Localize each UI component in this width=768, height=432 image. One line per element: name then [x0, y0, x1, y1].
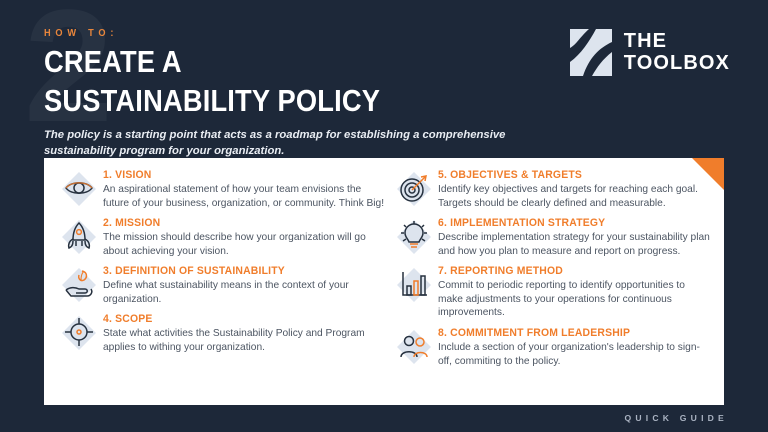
list-item-title: 1. VISION: [103, 169, 365, 181]
brand-logo: THE TOOLBOX: [569, 28, 730, 77]
icon-container: [60, 169, 98, 207]
list-item: 7. REPORTING METHOD Commit to periodic r…: [395, 264, 710, 320]
list-item-body: 5. OBJECTIVES & TARGETS Identify key obj…: [438, 168, 710, 210]
icon-container: [395, 217, 433, 255]
rocket-icon: [63, 220, 95, 252]
toolbox-diagonal-stripes-logo-icon: [569, 28, 613, 77]
list-item-title: 7. REPORTING METHOD: [438, 265, 691, 277]
header-subtitle: The policy is a starting point that acts…: [44, 128, 524, 159]
list-item-description: The mission should describe how your org…: [103, 231, 385, 258]
list-item-description: State what activities the Sustainability…: [103, 327, 385, 354]
steps-right-column: 5. OBJECTIVES & TARGETS Identify key obj…: [385, 168, 710, 395]
steps-left-column: 1. VISION An aspirational statement of h…: [60, 168, 385, 395]
steps-card: 1. VISION An aspirational statement of h…: [44, 158, 724, 405]
list-item-body: 7. REPORTING METHOD Commit to periodic r…: [438, 264, 710, 320]
list-item: 5. OBJECTIVES & TARGETS Identify key obj…: [395, 168, 710, 210]
hand-with-leaf-icon: [63, 268, 95, 300]
list-item-title: 3. DEFINITION OF SUSTAINABILITY: [103, 265, 365, 277]
list-item-description: Commit to periodic reporting to identify…: [438, 279, 710, 320]
page-title-line2: SUSTAINABILITY POLICY: [44, 85, 466, 117]
dartboard-arrow-icon: [398, 172, 430, 204]
list-item: 4. SCOPE State what activities the Susta…: [60, 312, 385, 354]
list-item: 8. COMMITMENT FROM LEADERSHIP Include a …: [395, 326, 710, 368]
list-item-body: 2. MISSION The mission should describe h…: [103, 216, 385, 258]
header: HOW TO: CREATE A SUSTAINABILITY POLICY T…: [44, 28, 524, 159]
list-item-description: Describe implementation strategy for you…: [438, 231, 710, 258]
brand-logo-text: THE TOOLBOX: [624, 31, 730, 74]
list-item-body: 1. VISION An aspirational statement of h…: [103, 168, 385, 210]
list-item-title: 2. MISSION: [103, 217, 365, 229]
list-item-description: Include a section of your organization's…: [438, 341, 710, 368]
brand-logo-text-line2: TOOLBOX: [624, 53, 730, 75]
two-people-icon: [398, 330, 430, 362]
footer-label: QUICK GUIDE: [625, 413, 729, 423]
list-item: 1. VISION An aspirational statement of h…: [60, 168, 385, 210]
icon-container: [395, 327, 433, 365]
list-item-description: Define what sustainability means in the …: [103, 279, 385, 306]
icon-container: [60, 313, 98, 351]
bar-chart-icon: [398, 268, 430, 300]
icon-container: [60, 217, 98, 255]
list-item-body: 4. SCOPE State what activities the Susta…: [103, 312, 385, 354]
page-title-line1: CREATE A: [44, 46, 466, 78]
list-item-title: 4. SCOPE: [103, 313, 365, 325]
icon-container: [395, 169, 433, 207]
header-kicker: HOW TO:: [44, 28, 486, 39]
list-item-body: 6. IMPLEMENTATION STRATEGY Describe impl…: [438, 216, 710, 258]
list-item: 2. MISSION The mission should describe h…: [60, 216, 385, 258]
list-item-title: 6. IMPLEMENTATION STRATEGY: [438, 217, 691, 229]
list-item-description: An aspirational statement of how your te…: [103, 183, 385, 210]
list-item-title: 5. OBJECTIVES & TARGETS: [438, 169, 691, 181]
list-item-body: 8. COMMITMENT FROM LEADERSHIP Include a …: [438, 326, 710, 368]
lightbulb-gear-icon: [398, 220, 430, 252]
list-item: 6. IMPLEMENTATION STRATEGY Describe impl…: [395, 216, 710, 258]
list-item-description: Identify key objectives and targets for …: [438, 183, 710, 210]
list-item-title: 8. COMMITMENT FROM LEADERSHIP: [438, 327, 691, 339]
brand-logo-text-line1: THE: [624, 31, 730, 53]
crosshair-target-icon: [63, 316, 95, 348]
eye-icon: [63, 172, 95, 204]
icon-container: [60, 265, 98, 303]
list-item: 3. DEFINITION OF SUSTAINABILITY Define w…: [60, 264, 385, 306]
icon-container: [395, 265, 433, 303]
list-item-body: 3. DEFINITION OF SUSTAINABILITY Define w…: [103, 264, 385, 306]
